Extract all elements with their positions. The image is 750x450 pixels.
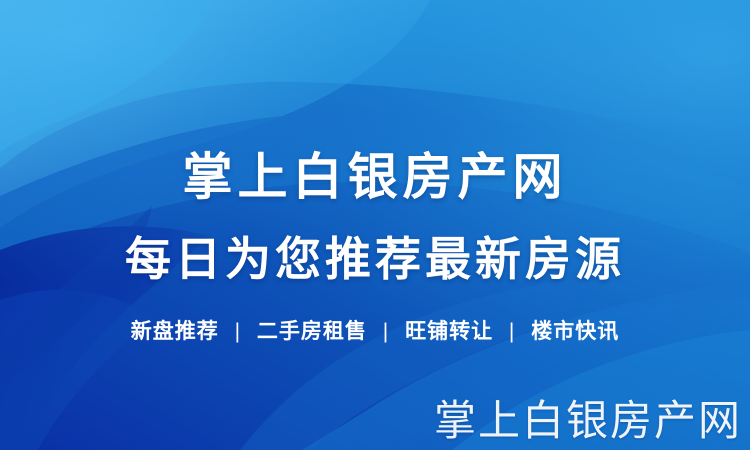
tagline-separator-1: | xyxy=(374,318,398,345)
tagline-separator-0: | xyxy=(226,318,250,345)
promo-banner: 掌上白银房产网 每日为您推荐最新房源 新盘推荐 | 二手房租售 | 旺铺转让 |… xyxy=(0,0,750,450)
watermark-text: 掌上白银房产网 xyxy=(434,400,742,444)
tagline-item-2: 旺铺转让 xyxy=(405,320,493,343)
tagline-list: 新盘推荐 | 二手房租售 | 旺铺转让 | 楼市快讯 xyxy=(0,318,750,345)
tagline-separator-2: | xyxy=(500,318,524,345)
page-title: 掌上白银房产网 xyxy=(0,148,750,207)
banner-subtitle: 每日为您推荐最新房源 xyxy=(0,232,750,286)
tagline-item-1: 二手房租售 xyxy=(257,320,367,343)
banner-content: 掌上白银房产网 每日为您推荐最新房源 新盘推荐 | 二手房租售 | 旺铺转让 |… xyxy=(0,0,750,450)
tagline-item-0: 新盘推荐 xyxy=(131,320,219,343)
tagline-item-3: 楼市快讯 xyxy=(531,320,619,343)
